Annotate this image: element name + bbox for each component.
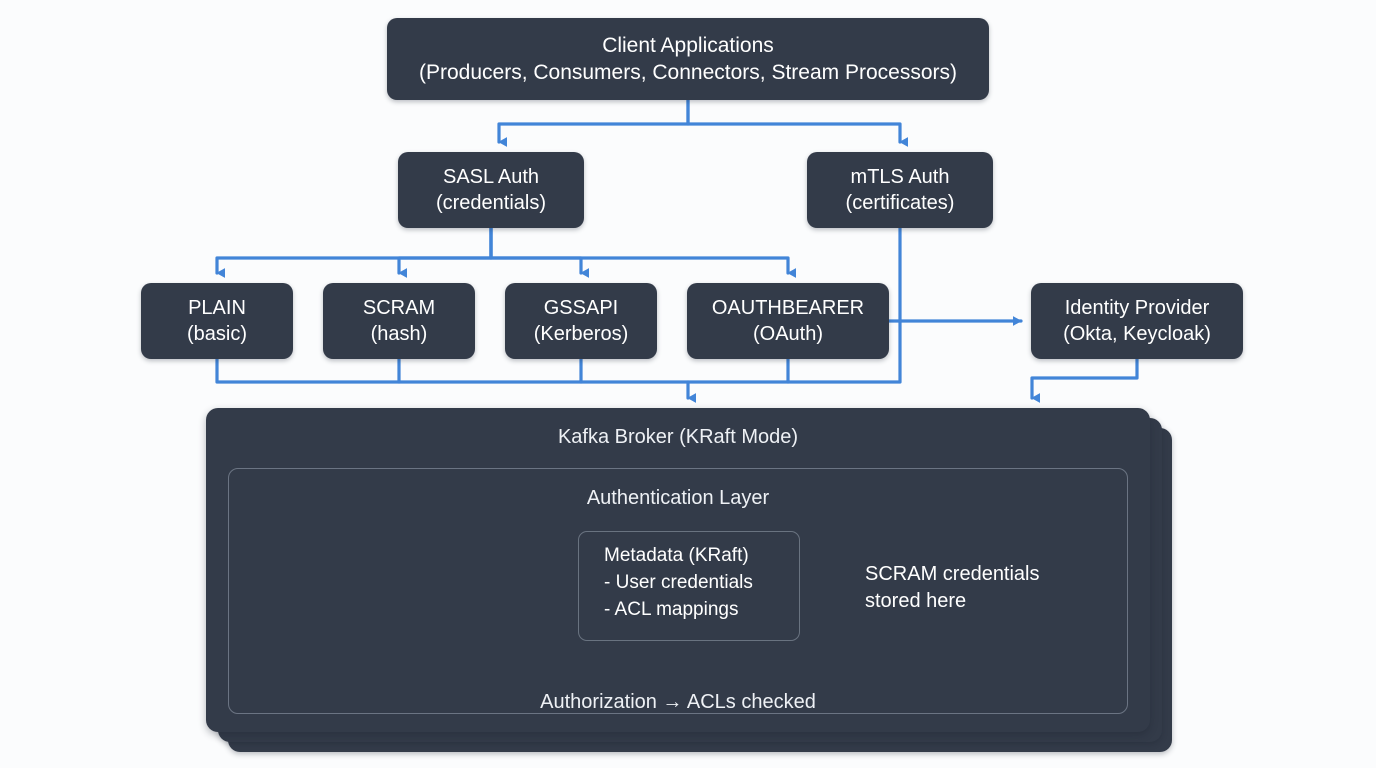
oauthbearer-mechanism-node[interactable]: OAUTHBEARER (OAuth) [687, 283, 889, 359]
wire-sasl-to-oauthbearer [491, 228, 788, 273]
mtls-auth-node[interactable]: mTLS Auth (certificates) [807, 152, 993, 228]
identity-provider-line2: (Okta, Keycloak) [1063, 321, 1211, 347]
diagram-canvas: Client Applications (Producers, Consumer… [0, 0, 1376, 768]
authorization-acl-note: Authorization → ACLs checked [206, 691, 1150, 714]
sasl-auth-line1: SASL Auth [443, 164, 539, 190]
scram-mechanism-line1: SCRAM [363, 295, 435, 321]
identity-provider-node[interactable]: Identity Provider (Okta, Keycloak) [1031, 283, 1243, 359]
wire-sasl-to-scram [399, 228, 491, 273]
wire-client-to-sasl [499, 100, 688, 142]
client-applications-line1: Client Applications [602, 32, 774, 59]
metadata-line1: Metadata (KRaft) [604, 543, 799, 570]
plain-mechanism-node[interactable]: PLAIN (basic) [141, 283, 293, 359]
sasl-auth-node[interactable]: SASL Auth (credentials) [398, 152, 584, 228]
gssapi-mechanism-line2: (Kerberos) [534, 321, 628, 347]
identity-provider-line1: Identity Provider [1065, 295, 1210, 321]
kafka-broker-panel[interactable]: Kafka Broker (KRaft Mode) Authentication… [206, 408, 1150, 732]
mtls-auth-line2: (certificates) [846, 190, 955, 216]
authentication-layer-title: Authentication Layer [229, 487, 1127, 510]
wire-identity-provider-to-broker [1032, 359, 1137, 398]
metadata-line2: - User credentials [604, 570, 799, 597]
metadata-line3: - ACL mappings [604, 597, 799, 624]
gssapi-mechanism-line1: GSSAPI [544, 295, 618, 321]
scram-mechanism-line2: (hash) [371, 321, 428, 347]
wire-sasl-to-gssapi [491, 228, 581, 273]
plain-mechanism-line1: PLAIN [188, 295, 246, 321]
metadata-kraft-box[interactable]: Metadata (KRaft) - User credentials - AC… [578, 531, 800, 641]
client-applications-line2: (Producers, Consumers, Connectors, Strea… [419, 59, 957, 86]
wire-plain-to-broker [217, 359, 688, 398]
wire-sasl-to-plain [217, 228, 491, 273]
oauthbearer-mechanism-line2: (OAuth) [753, 321, 823, 347]
oauthbearer-mechanism-line1: OAUTHBEARER [712, 295, 864, 321]
plain-mechanism-line2: (basic) [187, 321, 247, 347]
scram-credentials-annotation: SCRAM credentials stored here [865, 561, 1040, 615]
mtls-auth-line1: mTLS Auth [851, 164, 950, 190]
sasl-auth-line2: (credentials) [436, 190, 546, 216]
gssapi-mechanism-node[interactable]: GSSAPI (Kerberos) [505, 283, 657, 359]
authentication-layer-panel: Authentication Layer Metadata (KRaft) - … [228, 468, 1128, 714]
scram-mechanism-node[interactable]: SCRAM (hash) [323, 283, 475, 359]
kafka-broker-title: Kafka Broker (KRaft Mode) [206, 426, 1150, 449]
client-applications-node[interactable]: Client Applications (Producers, Consumer… [387, 18, 989, 100]
wire-client-to-mtls [688, 100, 900, 142]
